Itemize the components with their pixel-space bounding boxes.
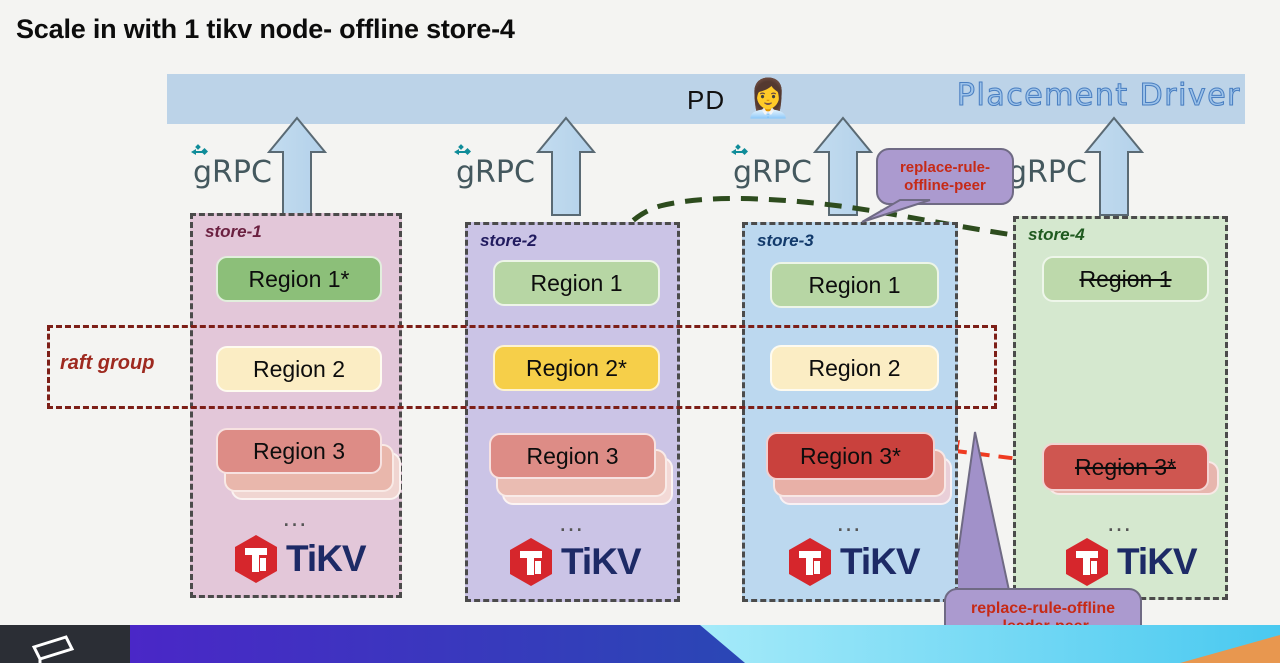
- region-ellipsis: …: [468, 507, 677, 538]
- grpc-logo-icon: [453, 144, 471, 160]
- placement-driver-label: Placement Driver: [957, 78, 1241, 113]
- region-card[interactable]: Region 1: [770, 262, 939, 308]
- callout-line-2: offline-peer: [904, 177, 986, 194]
- region-card[interactable]: Region 3: [216, 428, 382, 474]
- grpc-logo-icon: [730, 144, 748, 160]
- tikv-wordmark: TiKV: [1117, 541, 1197, 583]
- tikv-logo: TiKV: [233, 534, 366, 584]
- tikv-logo: TiKV: [508, 537, 641, 587]
- slide-canvas: Scale in with 1 tikv node- offline store…: [0, 0, 1280, 663]
- grpc-label-1: gRPC: [193, 155, 272, 190]
- region-card[interactable]: Region 3*: [766, 432, 935, 480]
- region-card[interactable]: Region 1*: [216, 256, 382, 302]
- tikv-hex-icon: [233, 534, 279, 584]
- tikv-hex-icon: [508, 537, 554, 587]
- region-ellipsis: …: [745, 507, 955, 538]
- raft-group-box: [47, 325, 997, 409]
- callout-line-1: replace-rule-: [900, 159, 990, 176]
- tikv-wordmark: TiKV: [840, 541, 920, 583]
- grpc-label-4: gRPC: [1008, 155, 1087, 190]
- callout-offline-peer[interactable]: replace-rule- offline-peer: [876, 148, 1014, 205]
- region-card[interactable]: Region 1: [493, 260, 660, 306]
- grpc-logo-icon: [190, 144, 208, 160]
- bottom-decor-shapes: [0, 625, 1280, 663]
- region-ellipsis: …: [1016, 507, 1225, 538]
- callout-line-1: replace-rule-offline: [971, 600, 1115, 618]
- bottom-decor-strip: [0, 625, 1280, 663]
- tikv-wordmark: TiKV: [286, 538, 366, 580]
- callout-pointer-leader: [952, 432, 1010, 596]
- tikv-hex-icon: [787, 537, 833, 587]
- page-title: Scale in with 1 tikv node- offline store…: [16, 14, 515, 45]
- tikv-logo: TiKV: [1064, 537, 1197, 587]
- store-label: store-2: [480, 231, 537, 251]
- store-box-store-3[interactable]: store-3 Region 1 Region 2 Region 3* … Ti…: [742, 222, 958, 602]
- store-label: store-3: [757, 231, 814, 251]
- store-box-store-2[interactable]: store-2 Region 1 Region 2* Region 3 … Ti…: [465, 222, 680, 602]
- pd-bar: PD 👩‍💼 Placement Driver: [167, 74, 1245, 124]
- grpc-label-2: gRPC: [456, 155, 535, 190]
- tikv-logo: TiKV: [787, 537, 920, 587]
- store-label: store-4: [1028, 225, 1085, 245]
- pd-label: PD: [687, 85, 725, 116]
- tikv-hex-icon: [1064, 537, 1110, 587]
- region-card[interactable]: Region 1: [1042, 256, 1209, 302]
- store-label: store-1: [205, 222, 262, 242]
- raft-group-label: raft group: [60, 352, 154, 375]
- grpc-label-3: gRPC: [733, 155, 812, 190]
- store-box-store-4[interactable]: store-4 Region 1 Region 3* … TiKV: [1013, 216, 1228, 600]
- headset-operator-icon: 👩‍💼: [745, 76, 789, 122]
- region-ellipsis: …: [193, 502, 399, 533]
- tikv-wordmark: TiKV: [561, 541, 641, 583]
- region-card[interactable]: Region 3: [489, 433, 656, 479]
- region-card[interactable]: Region 3*: [1042, 443, 1209, 491]
